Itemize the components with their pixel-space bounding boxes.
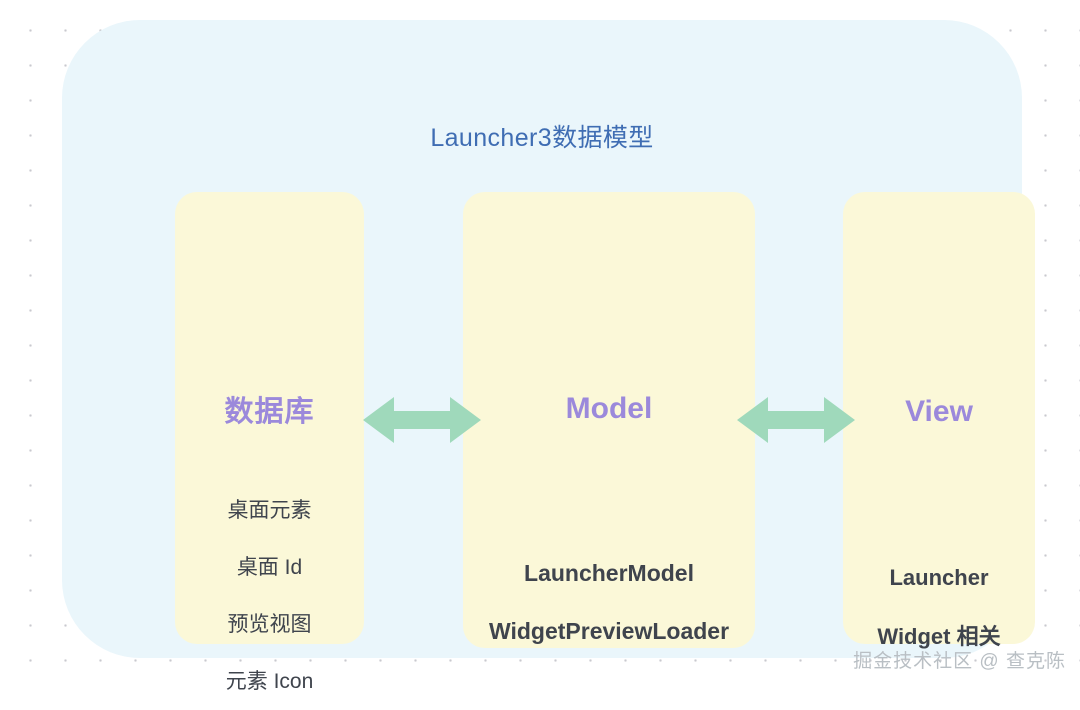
column-header-model: Model (463, 392, 755, 426)
column-header-database: 数据库 (175, 388, 364, 430)
column-card-view: View Launcher Widget 相关 (843, 192, 1035, 644)
diagram-panel: Launcher3数据模型 数据库 桌面元素 桌面 Id 预览视图 元素 Ico… (62, 20, 1022, 658)
double-arrow-icon-database-model (363, 389, 481, 451)
list-item: WidgetPreviewLoader (463, 602, 755, 660)
column-items-model: LauncherModel WidgetPreviewLoader (463, 544, 755, 660)
double-arrow-icon-model-view (737, 389, 855, 451)
list-item: 桌面元素 (175, 482, 364, 539)
watermark: 掘金技术社区 @ 查克陈 (853, 646, 1066, 673)
page-title: Launcher3数据模型 (62, 118, 1022, 154)
column-card-database: 数据库 桌面元素 桌面 Id 预览视图 元素 Icon (175, 192, 364, 644)
column-header-view: View (843, 395, 1035, 429)
list-item: 预览视图 (175, 596, 364, 653)
list-item: 元素 Icon (175, 653, 364, 710)
column-card-model: Model LauncherModel WidgetPreviewLoader (463, 192, 755, 648)
list-item: Launcher (843, 548, 1035, 607)
list-item: 桌面 Id (175, 539, 364, 596)
column-items-database: 桌面元素 桌面 Id 预览视图 元素 Icon (175, 482, 364, 710)
list-item: LauncherModel (463, 544, 755, 602)
